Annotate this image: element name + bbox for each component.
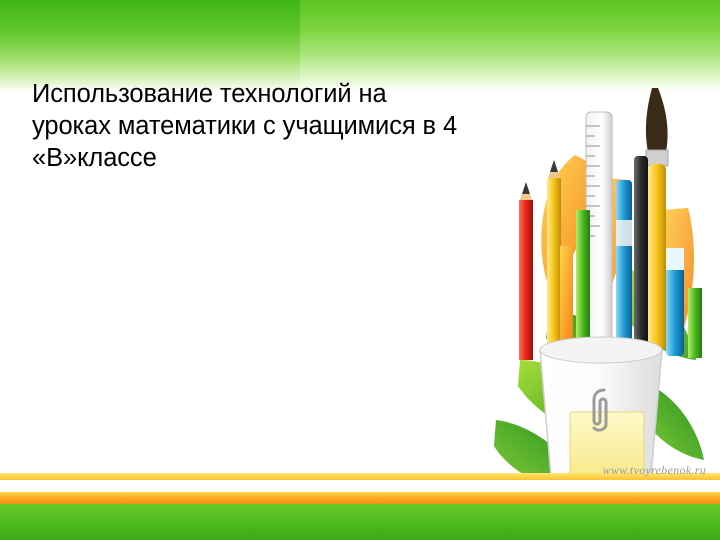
bottom-orange-band bbox=[0, 492, 720, 504]
pencil-yellow bbox=[547, 160, 561, 360]
pencil-green-right bbox=[688, 288, 702, 358]
pen-blue bbox=[616, 180, 632, 356]
marker-blue bbox=[666, 248, 684, 356]
paintbrush bbox=[646, 88, 668, 350]
pencil-red bbox=[519, 182, 533, 360]
bottom-white-gap bbox=[0, 480, 720, 492]
pen-dark bbox=[634, 156, 648, 354]
presentation-slide: Использование технологий на уроках матем… bbox=[0, 0, 720, 540]
watermark-text: www.tvoyrebenok.ru bbox=[603, 463, 706, 478]
bottom-green-band bbox=[0, 504, 720, 540]
slide-title: Использование технологий на уроках матем… bbox=[32, 78, 472, 174]
